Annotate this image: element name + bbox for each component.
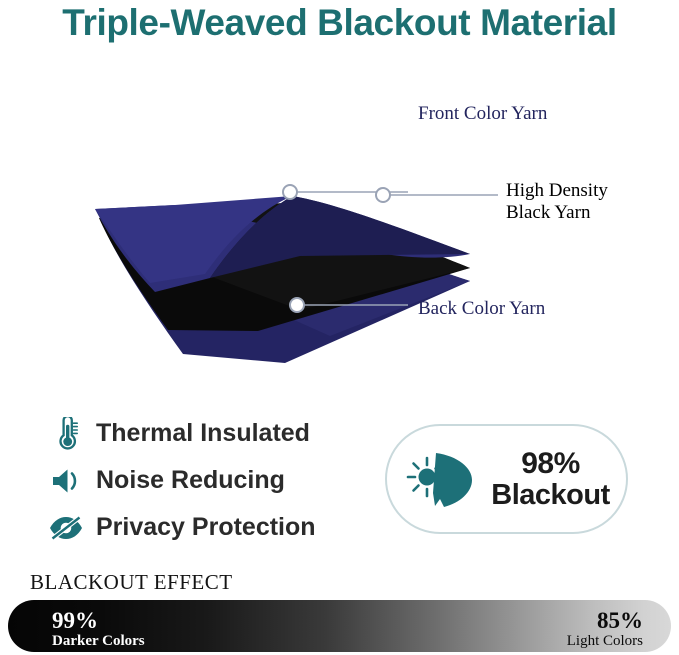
speaker-icon xyxy=(46,462,86,500)
eye-slash-icon xyxy=(46,509,86,547)
darker-colors-caption: Darker Colors xyxy=(52,634,145,649)
callout-label-back-color-yarn: Back Color Yarn xyxy=(418,298,545,320)
feature-list: Thermal Insulated Noise Reducing Privacy… xyxy=(46,410,356,551)
blackout-percentage-badge: 98% Blackout xyxy=(385,424,628,534)
blackout-percentage: 98% xyxy=(521,447,580,480)
light-colors-percentage: 85% xyxy=(567,609,643,632)
blackout-effect-gradient-bar: 99% Darker Colors 85% Light Colors xyxy=(8,600,671,652)
sun-blocked-by-curtain-icon xyxy=(403,443,483,515)
feature-item-privacy-protection: Privacy Protection xyxy=(46,504,356,551)
darker-colors-stat: 99% Darker Colors xyxy=(52,609,145,649)
callout-label-front-color-yarn: Front Color Yarn xyxy=(418,103,547,125)
feature-label-noise-reducing: Noise Reducing xyxy=(96,466,285,495)
page-title: Triple-Weaved Blackout Material xyxy=(0,2,679,44)
light-colors-caption: Light Colors xyxy=(567,634,643,649)
blackout-word: Blackout xyxy=(491,479,609,511)
callout-black-leader xyxy=(376,188,498,202)
blackout-badge-text: 98% Blackout xyxy=(483,448,626,511)
callout-label-line-1: High Density xyxy=(506,180,608,202)
feature-label-thermal-insulated: Thermal Insulated xyxy=(96,419,310,448)
callout-label-line-2: Black Yarn xyxy=(506,202,608,224)
feature-label-privacy-protection: Privacy Protection xyxy=(96,513,316,542)
darker-colors-percentage: 99% xyxy=(52,609,145,632)
callout-label-high-density-black-yarn: High Density Black Yarn xyxy=(506,180,608,224)
feature-item-thermal-insulated: Thermal Insulated xyxy=(46,410,356,457)
blackout-effect-title: BLACKOUT EFFECT xyxy=(30,570,233,595)
feature-item-noise-reducing: Noise Reducing xyxy=(46,457,356,504)
thermometer-icon xyxy=(46,415,86,453)
light-colors-stat: 85% Light Colors xyxy=(567,609,643,649)
